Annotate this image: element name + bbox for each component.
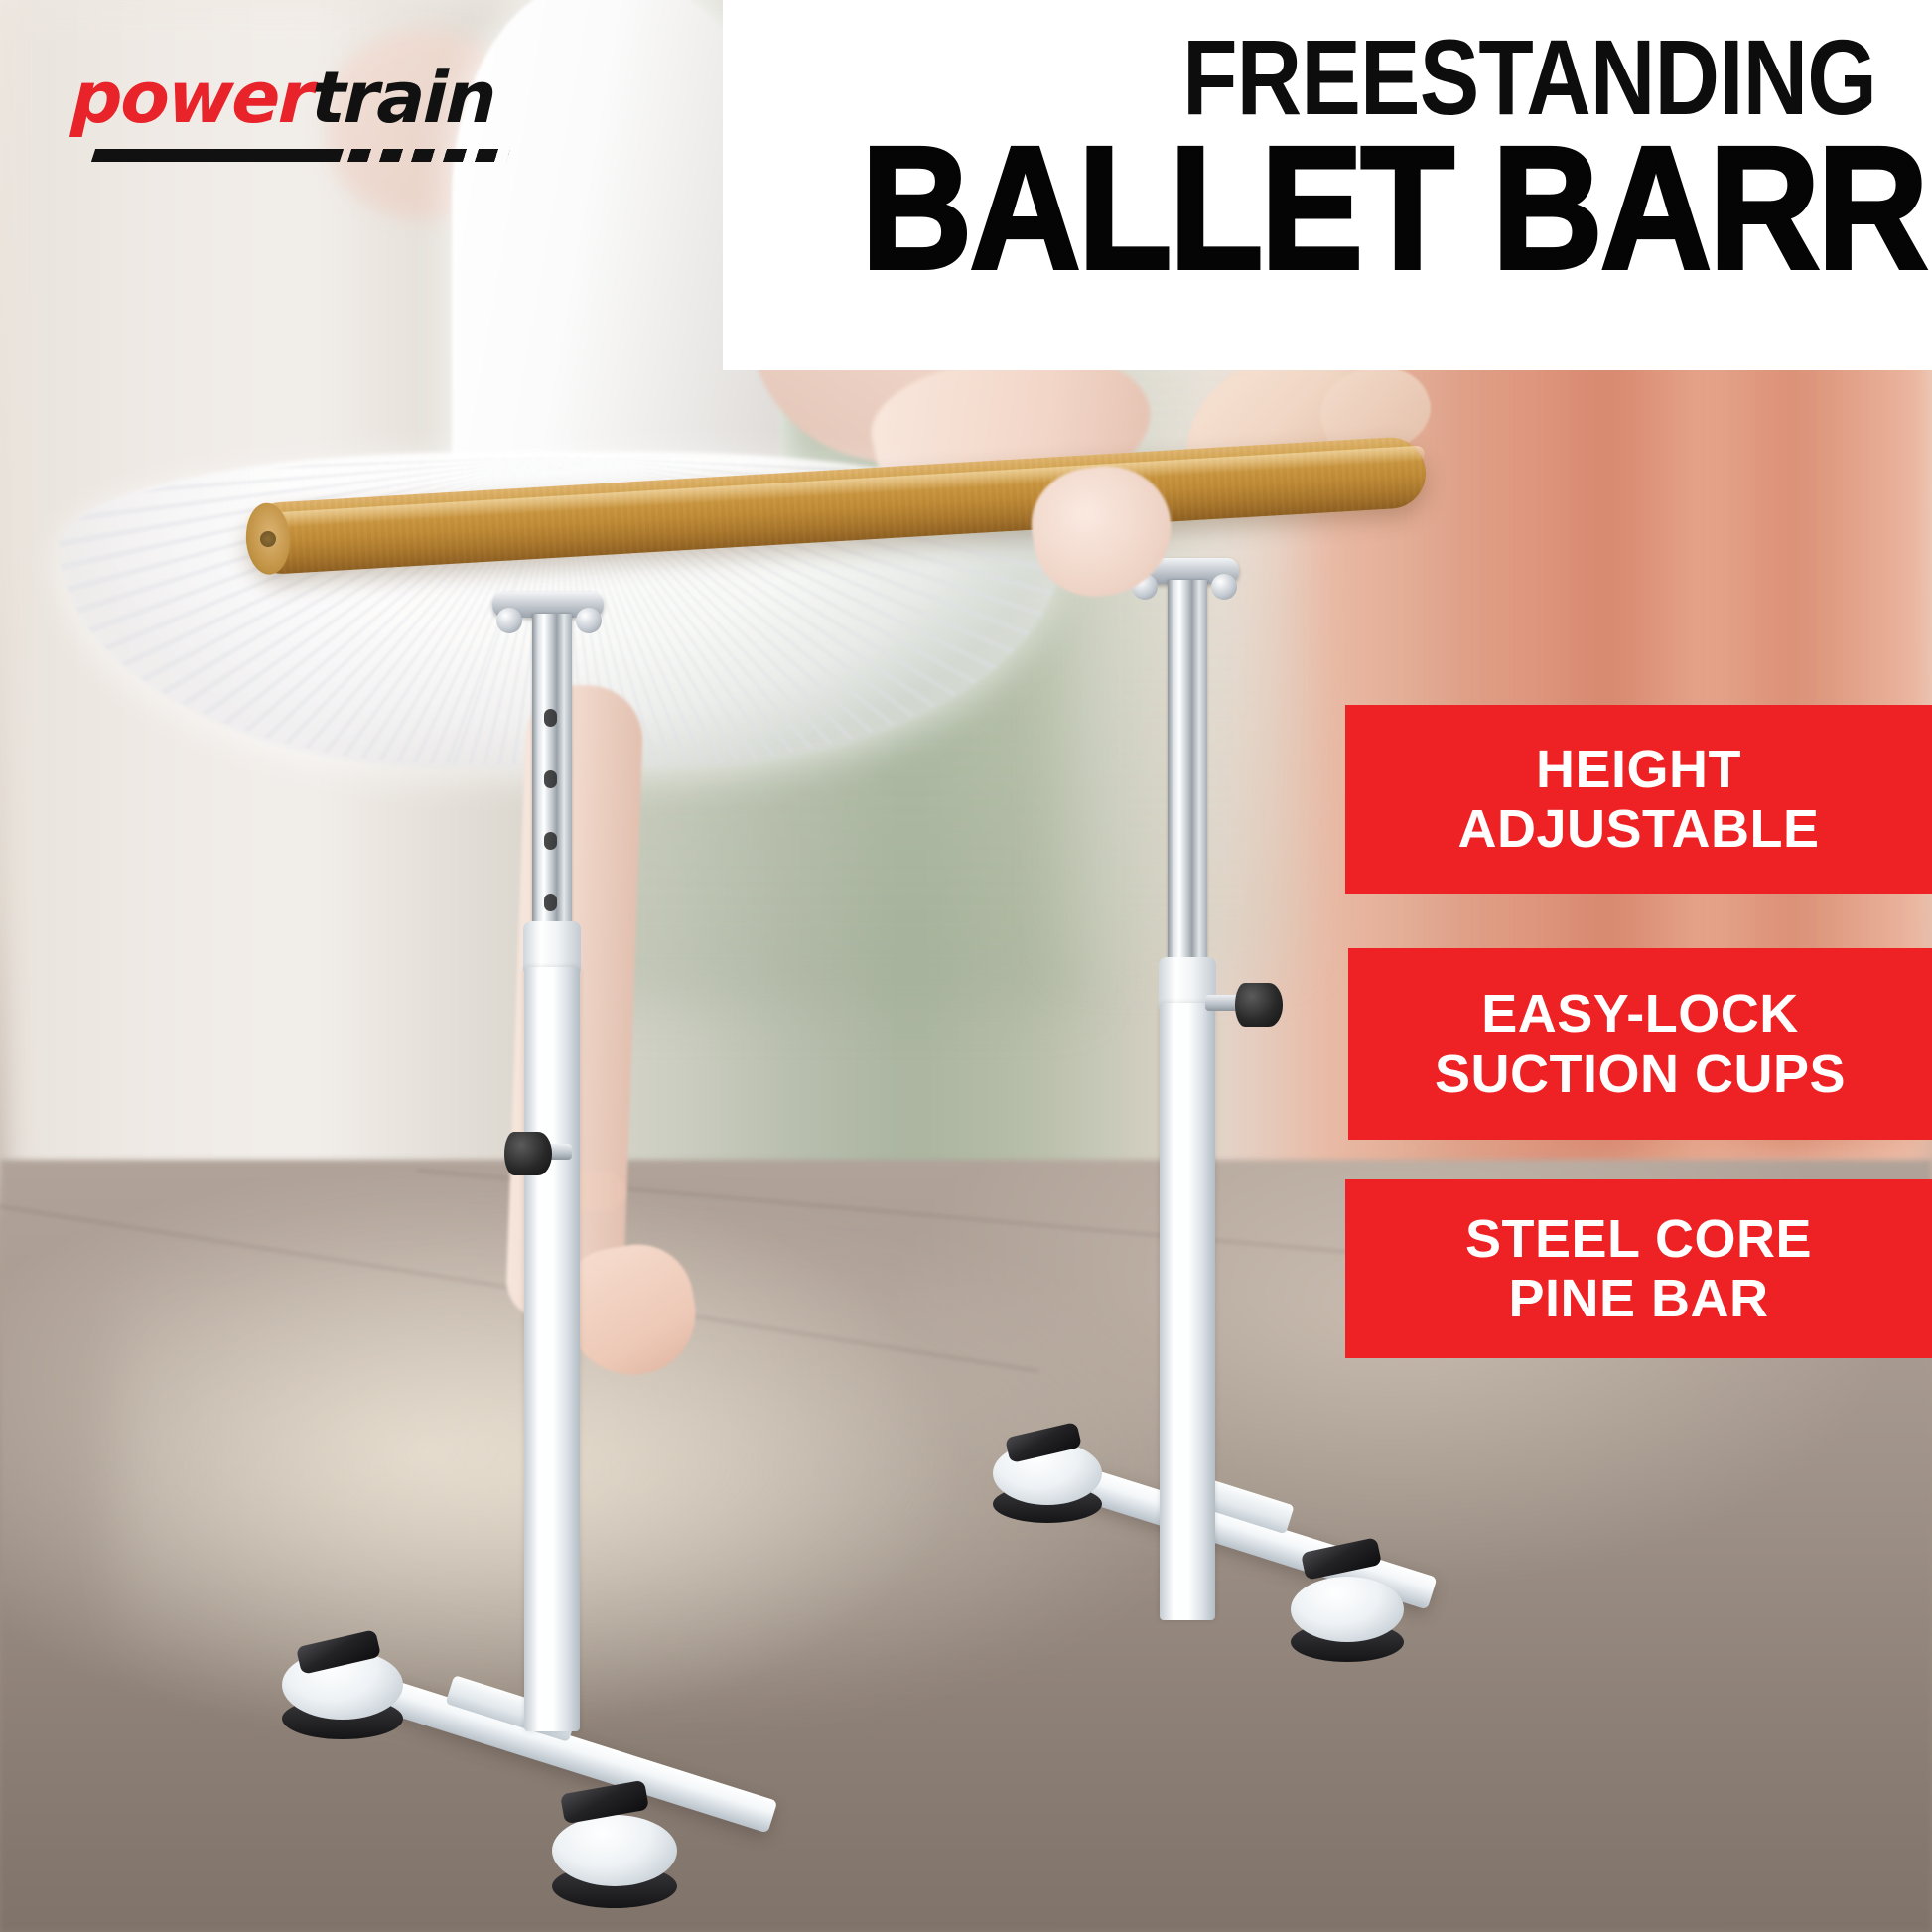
powertrain-logo: powertrain: [71, 62, 488, 166]
header-panel: FREESTANDING BALLET BARRE: [723, 0, 1932, 370]
knob-cap: [1235, 983, 1283, 1027]
page-title: FREESTANDING BALLET BARRE: [723, 26, 1876, 290]
feature-badge-steel-core-pine-bar: STEEL CORE PINE BAR: [1345, 1179, 1932, 1358]
logo-word-train: train: [310, 56, 495, 139]
feature-badge-easy-lock-suction-cups: EASY-LOCK SUCTION CUPS: [1348, 948, 1932, 1140]
logo-underline-dashes: [347, 149, 510, 162]
knob-cap: [504, 1132, 552, 1175]
post-adjustment-holes-left: [544, 709, 557, 911]
suction-cup-dome: [1291, 1577, 1404, 1642]
feature-badge-label: EASY-LOCK SUCTION CUPS: [1435, 984, 1846, 1104]
logo-underline-bar: [91, 149, 344, 162]
post-white-tube-right: [1160, 1003, 1215, 1620]
bracket-bolt-icon: [576, 608, 602, 633]
post-chrome-tube-right: [1168, 580, 1207, 977]
product-marketing-image: FREESTANDING BALLET BARRE powertrain HEI…: [0, 0, 1932, 1932]
knob-stem: [1205, 995, 1239, 1011]
logo-wordmark: powertrain: [70, 62, 490, 133]
suction-cup-dome: [552, 1815, 677, 1886]
logo-word-power: power: [70, 56, 314, 139]
feature-badge-height-adjustable: HEIGHT ADJUSTABLE: [1345, 705, 1932, 894]
bracket-bolt-icon: [1211, 574, 1237, 600]
feature-badge-label: STEEL CORE PINE BAR: [1465, 1209, 1812, 1329]
title-line-ballet-barre: BALLET BARRE: [861, 129, 1876, 290]
post-white-tube-left: [524, 967, 580, 1731]
bracket-bolt-icon: [496, 608, 522, 633]
feature-badge-label: HEIGHT ADJUSTABLE: [1457, 740, 1819, 860]
